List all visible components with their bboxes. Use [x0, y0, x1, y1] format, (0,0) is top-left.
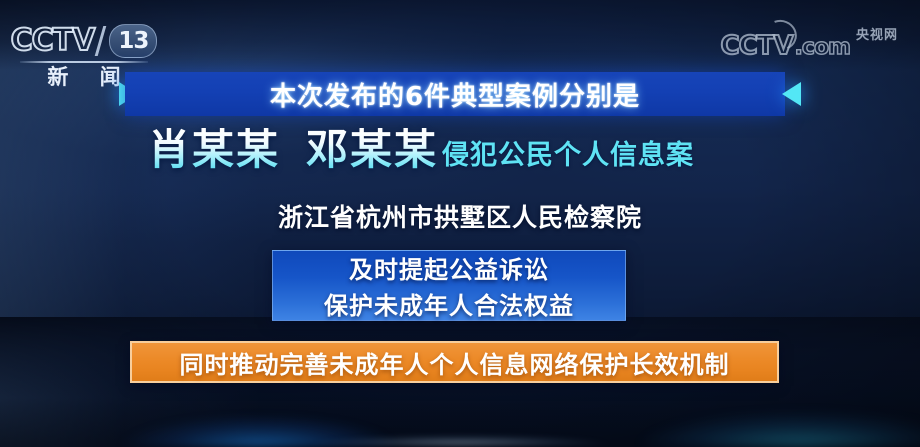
logo-slash-divider [95, 26, 107, 56]
cctv-com-chinese-label: 央视网 [856, 24, 898, 43]
logo-underline-rule [20, 61, 148, 63]
orange-callout-box: 同时推动完善未成年人个人信息网络保护长效机制 [130, 341, 779, 383]
headline-text: 本次发布的6件典型案例分别是 [270, 76, 640, 113]
channel-number-badge: 13 [109, 24, 157, 58]
orange-callout-text: 同时推动完善未成年人个人信息网络保护长效机制 [180, 345, 730, 380]
channel-number: 13 [118, 30, 148, 53]
blue-callout-line-2: 保护未成年人合法权益 [324, 286, 574, 321]
headline-banner: 本次发布的6件典型案例分别是 [125, 72, 785, 116]
defendant-name-second: 邓某某 [306, 128, 438, 172]
cctv-wordmark: CCTV [11, 26, 95, 56]
cctv-com-watermark: CCTV .com 央视网 [721, 24, 898, 59]
case-type-label: 侵犯公民个人信息案 [442, 142, 694, 170]
prosecuting-authority: 浙江省杭州市拱墅区人民检察院 [0, 198, 920, 234]
cctv13-logo-row: CCTV 13 [11, 24, 158, 58]
defendant-name-first: 肖某某 [148, 128, 280, 172]
cctv-com-domain: .com [795, 37, 850, 59]
case-names-row: 肖某某 邓某某 侵犯公民个人信息案 [148, 128, 694, 172]
blue-callout-line-1: 及时提起公益诉讼 [349, 250, 549, 285]
blue-callout-box: 及时提起公益诉讼 保护未成年人合法权益 [272, 250, 626, 321]
broadcast-screen: CCTV 13 新 闻 CCTV .com 央视网 本次发布的6件典型案例分别是… [0, 0, 920, 447]
cctv-com-wordmark: CCTV [721, 33, 793, 59]
triangle-left-icon [782, 82, 801, 106]
